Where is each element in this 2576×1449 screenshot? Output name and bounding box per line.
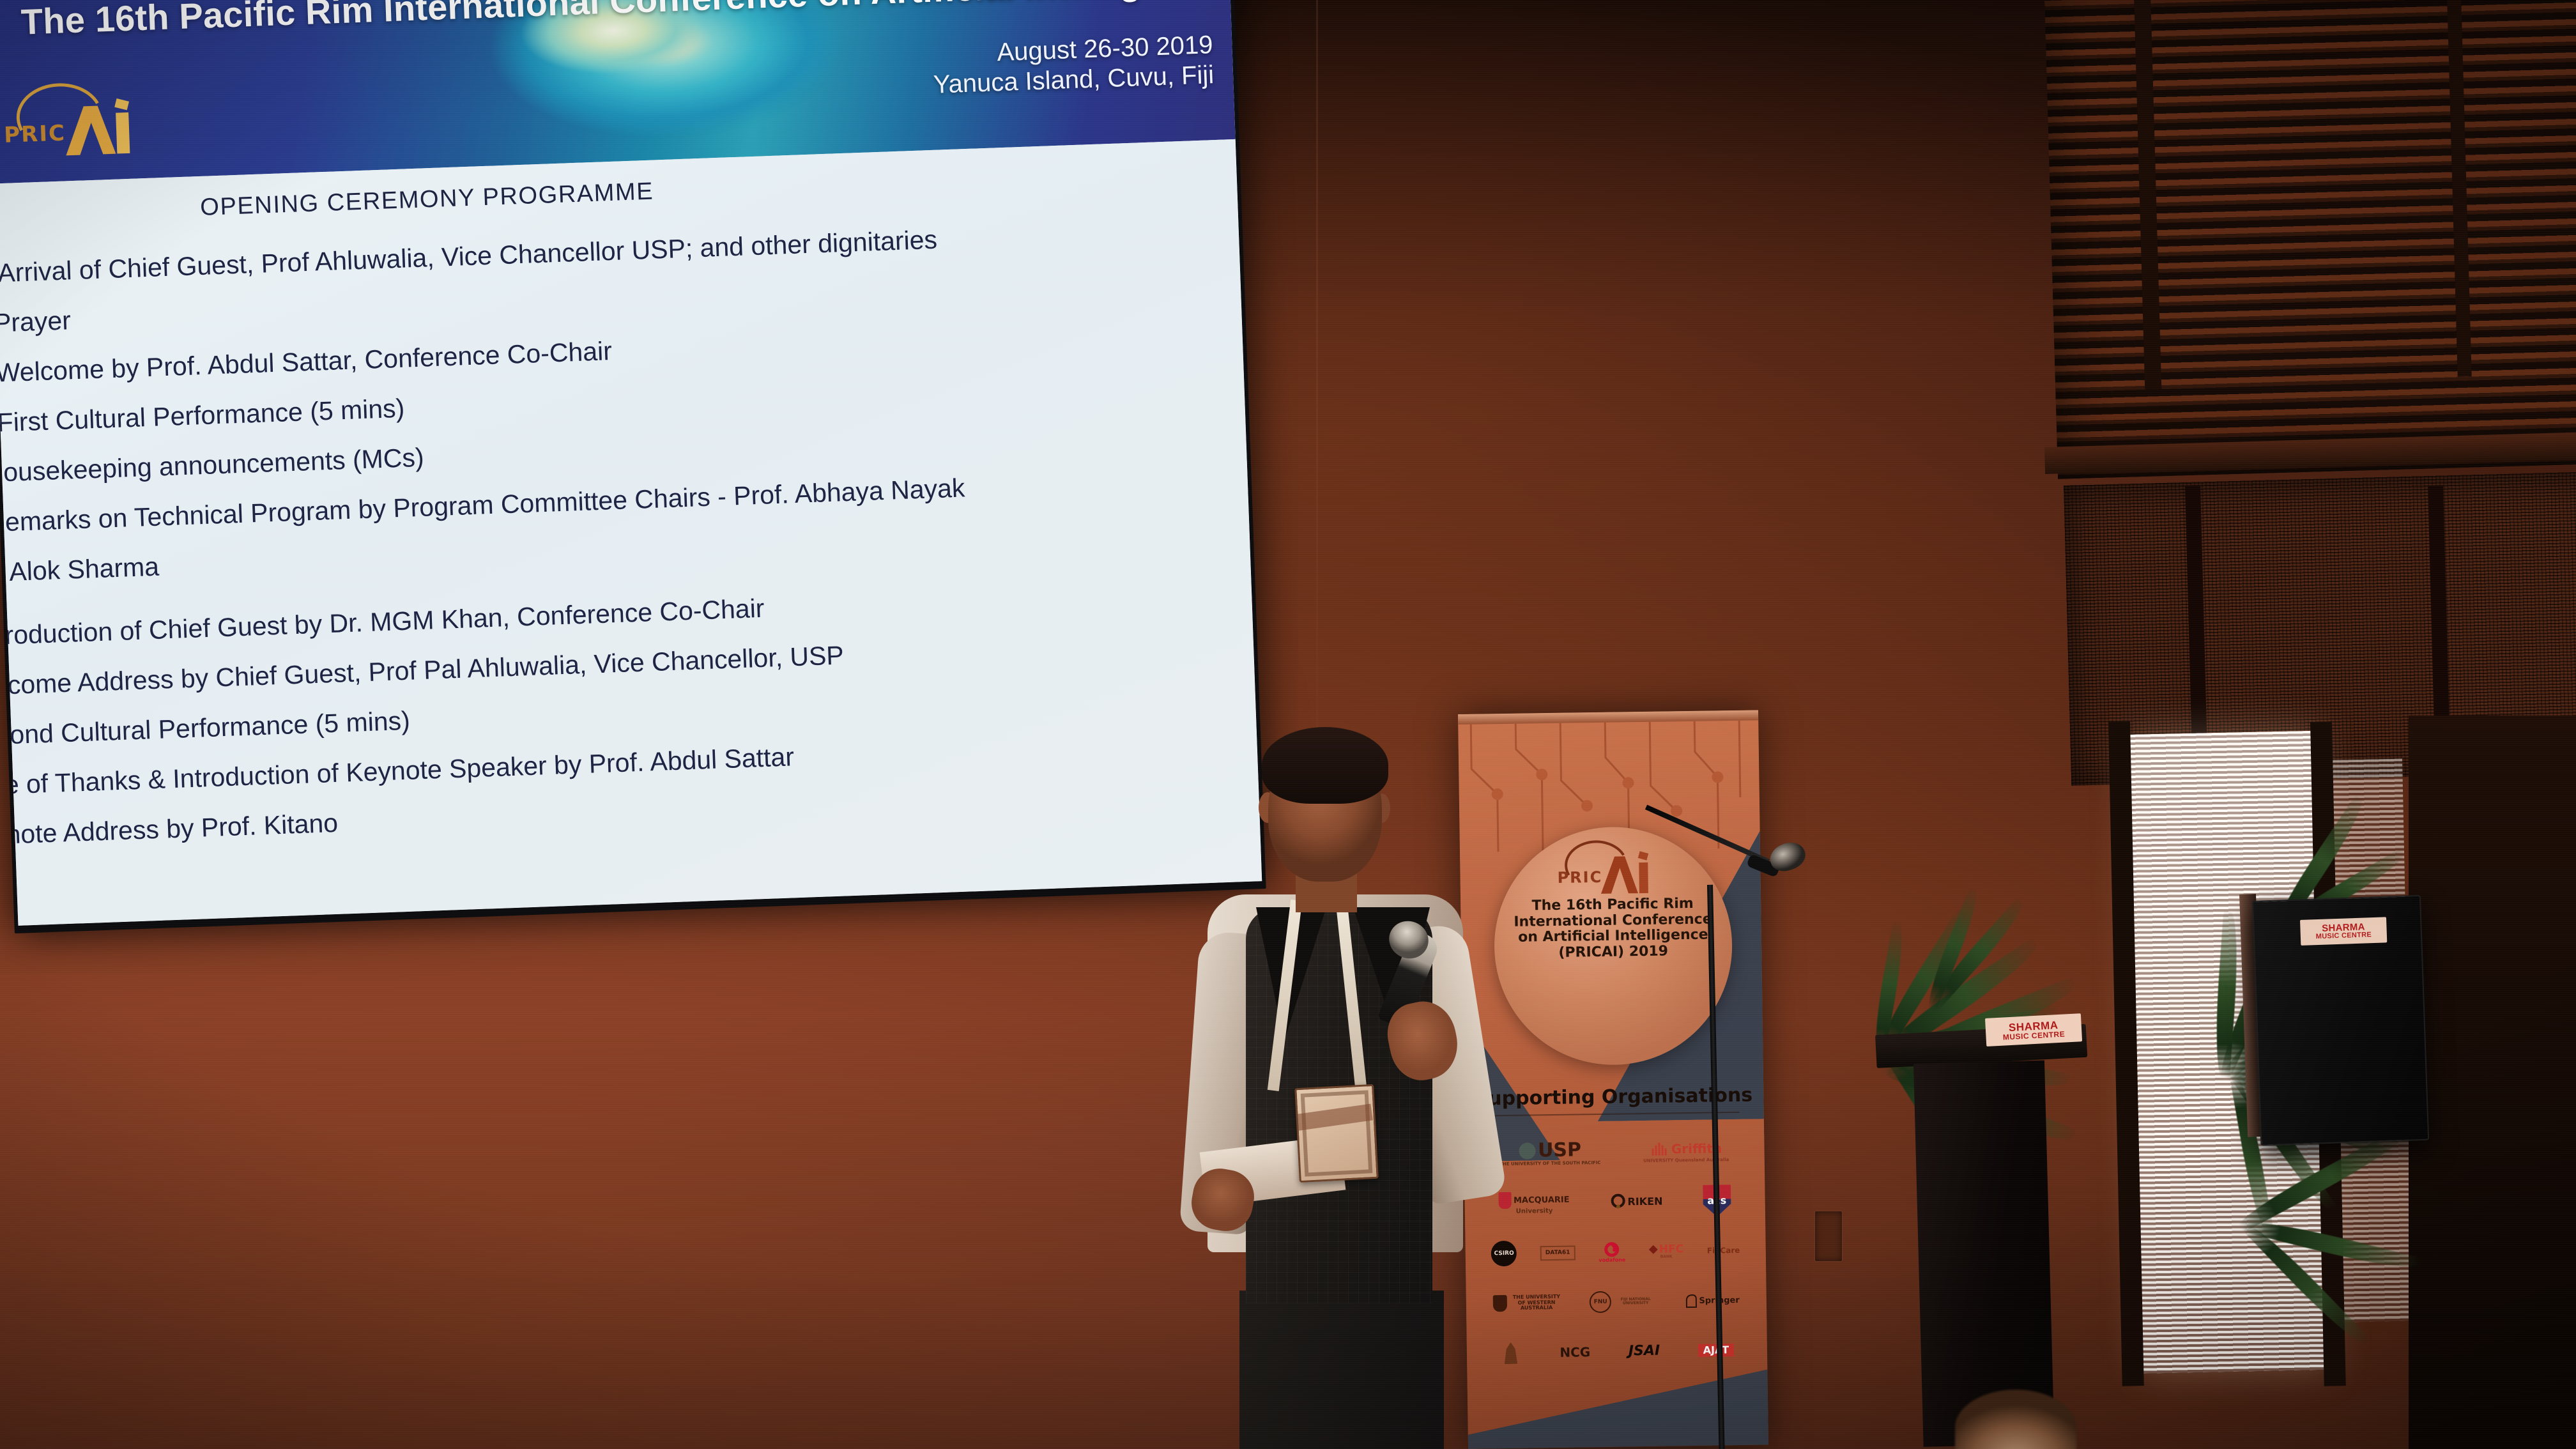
programme-list: :30am: Arrival of Chief Guest, Prof Ahlu… [0, 216, 1248, 874]
sponsor-name: RIKEN [1627, 1197, 1662, 1207]
sponsor-name: NCG [1560, 1345, 1590, 1359]
sponsor-name: FNU [1590, 1291, 1611, 1313]
presenter-trousers [1239, 1291, 1444, 1449]
pa-label-line2: MUSIC CENTRE [2316, 931, 2372, 940]
lectern-brand-label: SHARMA MUSIC CENTRE [1985, 1013, 2082, 1046]
screen-frame: The 16th Pacific Rim International Confe… [0, 0, 1266, 933]
banner-pricai-logo: PRIC [1554, 836, 1670, 897]
sponsor-name: DATA61 [1540, 1245, 1575, 1261]
sponsor-name: USP [1538, 1140, 1581, 1160]
sponsor-name: JSAI [1629, 1344, 1660, 1359]
wall-seam [1316, 0, 1318, 741]
sponsor-vodafone-logo: vodafone [1598, 1241, 1625, 1263]
sponsor-ajat-logo: AJAT [1698, 1344, 1735, 1357]
sponsor-name: vodafone [1598, 1257, 1625, 1263]
presenter-badge [1294, 1084, 1379, 1183]
sponsor-springer-logo: Springer [1683, 1292, 1740, 1308]
programme-heading: OPENING CEREMONY PROGRAMME [0, 171, 862, 229]
presenter [1131, 696, 1540, 1449]
hfc-diamond-icon [1649, 1245, 1658, 1254]
conference-photo-scene: The 16th Pacific Rim International Confe… [0, 0, 2576, 1449]
svg-text:PRIC: PRIC [1557, 868, 1602, 887]
slide-body: OPENING CEREMONY PROGRAMME :30am: Arriva… [0, 139, 1262, 926]
svg-text:PRIC: PRIC [4, 120, 66, 148]
wooden-louver-blinds [2044, 0, 2576, 479]
sponsor-hfc-logo: HFC BANK [1649, 1244, 1684, 1259]
sponsor-riken-logo: RIKEN [1609, 1193, 1662, 1211]
pricai-logo: PRIC [1, 75, 163, 164]
sponsor-data61-logo: DATA61 [1540, 1245, 1575, 1261]
sponsor-name: FijiCare [1707, 1246, 1740, 1255]
presenter-hair [1262, 727, 1388, 804]
vodafone-mark-icon [1604, 1241, 1620, 1258]
springer-knight-icon [1683, 1293, 1698, 1308]
sponsor-sub: FIJI NATIONAL UNIVERSITY [1613, 1297, 1658, 1306]
sponsor-sub: BANK [1660, 1255, 1673, 1259]
griffith-flame-icon [1650, 1140, 1669, 1158]
sponsor-ncg-logo: NCG [1560, 1345, 1590, 1359]
projection-screen: The 16th Pacific Rim International Confe… [0, 0, 1292, 953]
riken-mark-icon [1609, 1193, 1626, 1210]
sponsor-fijicare-logo: FijiCare [1707, 1246, 1740, 1255]
sponsor-name: HFC [1659, 1244, 1684, 1255]
sponsor-jsai-logo: JSAI [1629, 1344, 1660, 1359]
sponsor-fnu-logo: FNU FIJI NATIONAL UNIVERSITY [1590, 1291, 1658, 1313]
presenter-badge-band [1294, 1104, 1373, 1134]
lectern-body [1913, 1061, 2055, 1447]
presentation-slide: The 16th Pacific Rim International Confe… [0, 0, 1262, 926]
sponsor-name: AJAT [1698, 1344, 1735, 1357]
pa-speaker-brand-label: SHARMA MUSIC CENTRE [2300, 917, 2387, 946]
